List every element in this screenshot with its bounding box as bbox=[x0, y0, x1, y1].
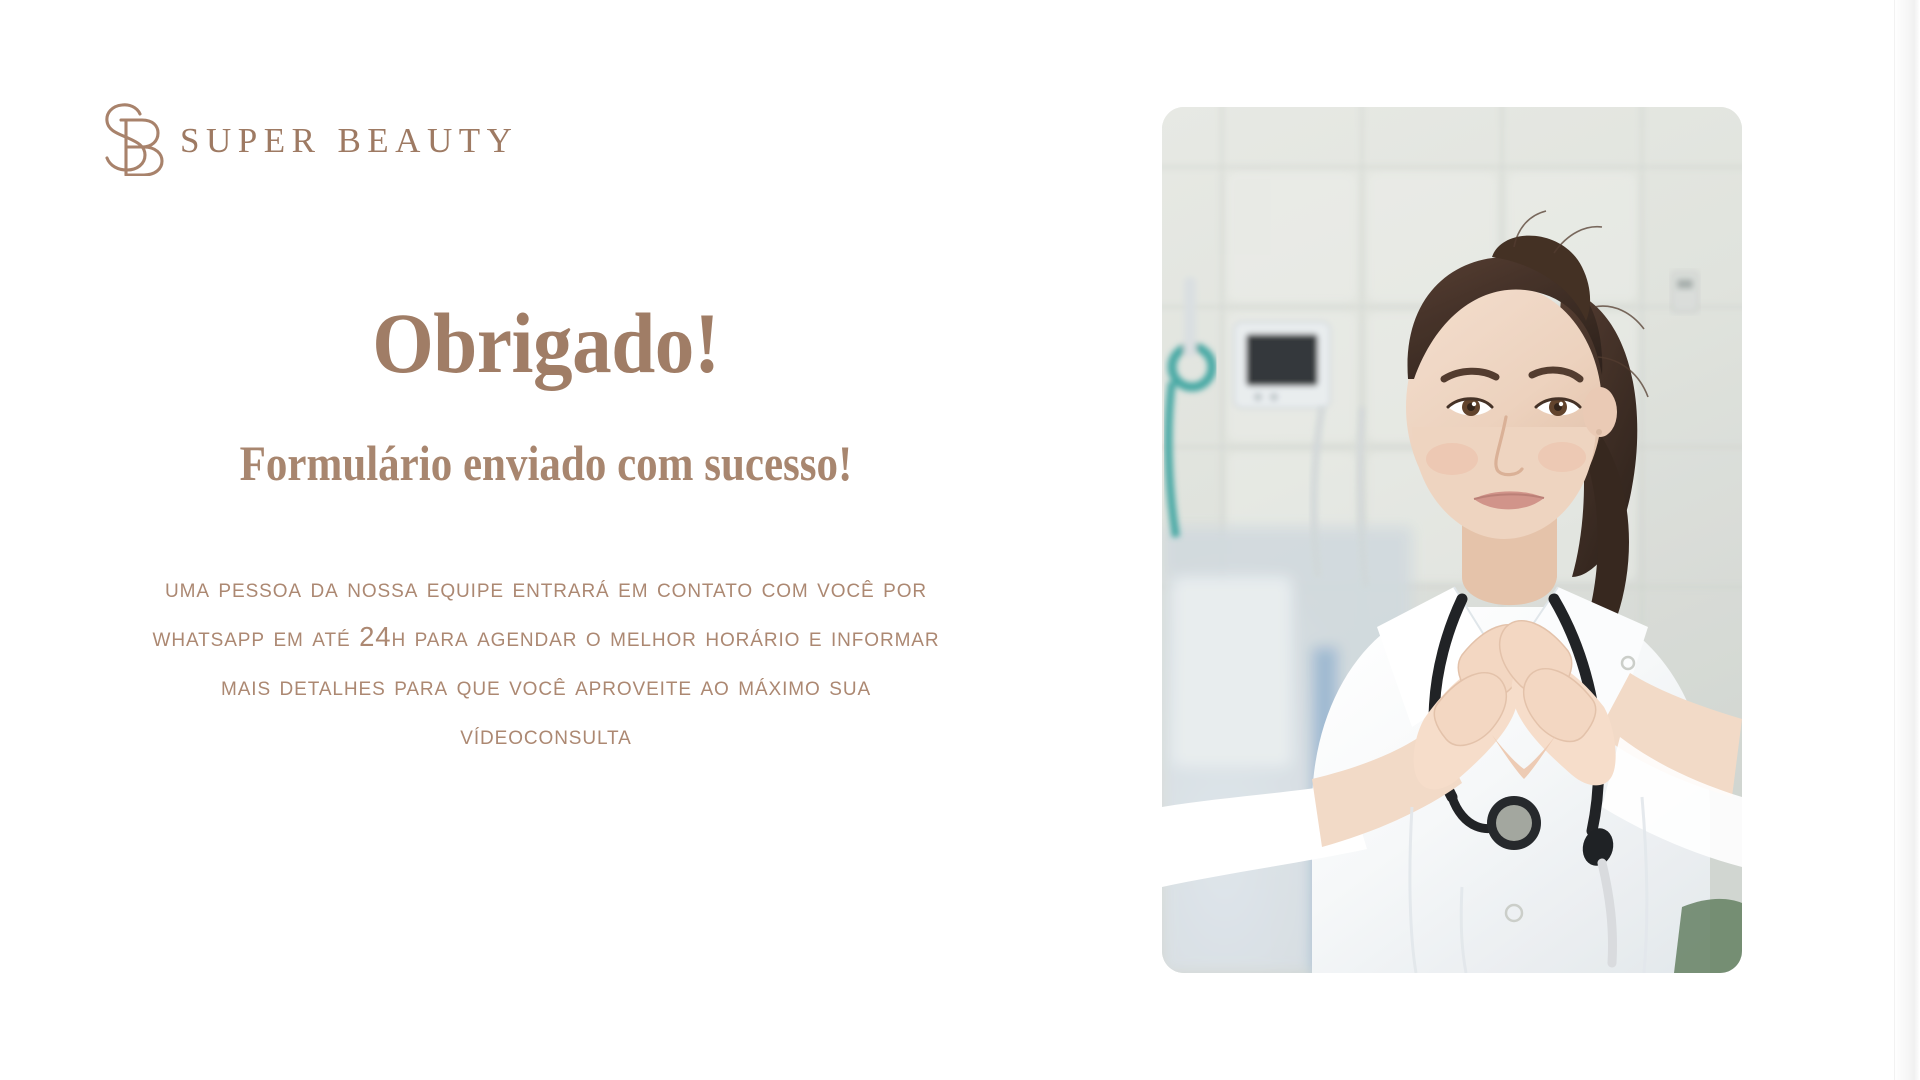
page-subtitle: Formulário enviado com sucesso! bbox=[159, 436, 933, 491]
brand-wordmark: SUPERBEAUTY bbox=[180, 123, 518, 158]
page-title: Obrigado! bbox=[132, 300, 960, 386]
message-block: Obrigado! Formulário enviado com sucesso… bbox=[96, 300, 996, 759]
brand-wordmark-beauty: BEAUTY bbox=[337, 121, 518, 160]
doctor-heart-hands-photo bbox=[1162, 107, 1742, 973]
confirmation-message: Uma pessoa da nossa equipe entrará em co… bbox=[151, 563, 941, 759]
sb-monogram-icon bbox=[96, 100, 170, 176]
page-edge-line bbox=[1894, 0, 1895, 1080]
thank-you-page: SUPERBEAUTY Obrigado! Formulário enviado… bbox=[0, 0, 1920, 1080]
page-edge-shadow bbox=[1894, 0, 1920, 1080]
brand-logo[interactable]: SUPERBEAUTY bbox=[96, 100, 518, 176]
brand-wordmark-super: SUPER bbox=[180, 121, 321, 160]
